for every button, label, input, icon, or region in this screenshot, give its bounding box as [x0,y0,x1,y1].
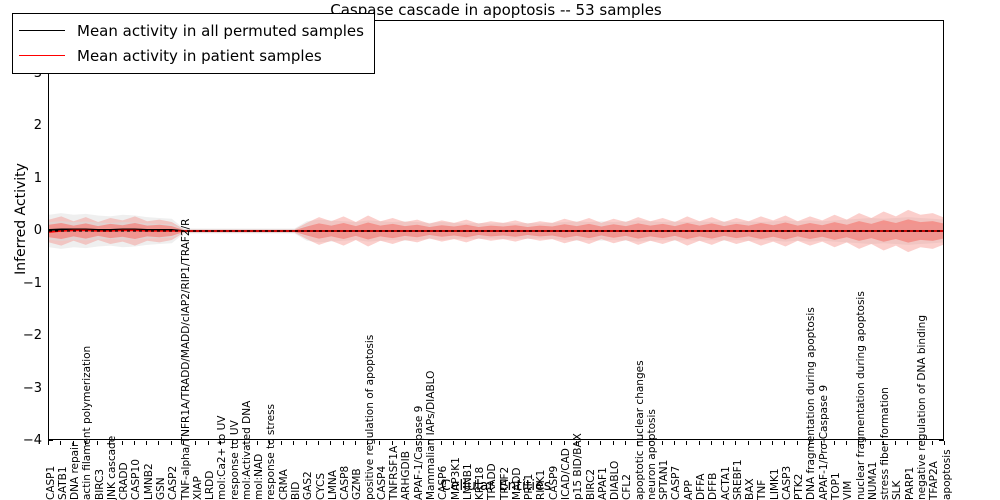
x-tick-mark [723,441,724,445]
x-tick-mark [514,441,515,445]
x-tick-mark [649,441,650,445]
x-tick-mark [85,441,86,445]
y-tick-label: −3 [0,381,42,395]
x-tick-mark [244,441,245,445]
x-tick-mark [834,441,835,445]
x-tick-mark [146,441,147,445]
x-tick-mark [122,441,123,445]
x-tick-mark [895,441,896,445]
x-tick-mark [404,441,405,445]
x-tick-mark [686,441,687,445]
x-tick-mark [551,441,552,445]
x-tick-mark [564,441,565,445]
x-tick-mark [60,441,61,445]
x-tick-mark [588,441,589,445]
x-tick-mark [711,441,712,445]
x-tick-mark [453,441,454,445]
x-tick-mark [662,441,663,445]
y-tick-label: −2 [0,328,42,342]
legend-item-patient: Mean activity in patient samples [19,43,364,68]
x-tick-mark [343,441,344,445]
y-tick-label: −4 [0,433,42,447]
x-tick-mark [318,441,319,445]
x-tick-mark [330,441,331,445]
x-tick-mark [232,441,233,445]
x-tick-mark [502,441,503,445]
x-tick-mark [870,441,871,445]
x-tick-mark [539,441,540,445]
x-tick-mark [919,441,920,445]
x-tick-mark [809,441,810,445]
y-tick-label: −1 [0,276,42,290]
x-tick-mark [379,441,380,445]
x-tick-mark [220,441,221,445]
x-tick-mark [735,441,736,445]
x-axis-label: Cellular Entities [48,478,944,496]
x-tick-mark [797,441,798,445]
x-tick-mark [699,441,700,445]
legend-label-permuted: Mean activity in all permuted samples [77,22,364,40]
x-tick-mark [772,441,773,445]
legend-swatch-permuted [19,30,65,31]
x-tick-mark [109,441,110,445]
x-tick-mark [490,441,491,445]
legend-label-patient: Mean activity in patient samples [77,47,322,65]
x-tick-mark [392,441,393,445]
x-tick-mark [748,441,749,445]
x-tick-mark [306,441,307,445]
x-tick-mark [208,441,209,445]
x-tick-mark [674,441,675,445]
legend-swatch-patient [19,55,65,56]
x-tick-mark [293,441,294,445]
x-tick-mark [637,441,638,445]
figure: Caspase cascade in apoptosis -- 53 sampl… [0,0,1000,500]
x-tick-mark [355,441,356,445]
x-tick-mark [576,441,577,445]
x-tick-mark [269,441,270,445]
x-tick-mark [416,441,417,445]
legend: Mean activity in all permuted samples Me… [12,13,375,74]
x-tick-mark [613,441,614,445]
x-tick-mark [527,441,528,445]
y-tick-label: 2 [0,118,42,132]
legend-item-permuted: Mean activity in all permuted samples [19,18,364,43]
x-tick-mark [257,441,258,445]
x-tick-mark [478,441,479,445]
x-tick-mark [846,441,847,445]
x-tick-mark [600,441,601,445]
x-tick-mark [441,441,442,445]
x-tick-mark [932,441,933,445]
x-tick-mark [858,441,859,445]
x-tick-mark [97,441,98,445]
x-tick-mark [158,441,159,445]
x-tick-mark [883,441,884,445]
x-tick-mark [195,441,196,445]
y-tick-label: 1 [0,171,42,185]
x-tick-mark [73,441,74,445]
x-tick-mark [281,441,282,445]
x-tick-mark [171,441,172,445]
x-tick-mark [183,441,184,445]
x-tick-mark [465,441,466,445]
y-tick-label: 0 [0,223,42,237]
x-tick-mark [367,441,368,445]
x-tick-mark [625,441,626,445]
x-tick-mark [784,441,785,445]
x-tick-mark [944,441,945,445]
x-tick-mark [428,441,429,445]
x-tick-mark [907,441,908,445]
x-tick-mark [134,441,135,445]
x-tick-mark [760,441,761,445]
x-tick-mark [48,441,49,445]
x-tick-mark [821,441,822,445]
